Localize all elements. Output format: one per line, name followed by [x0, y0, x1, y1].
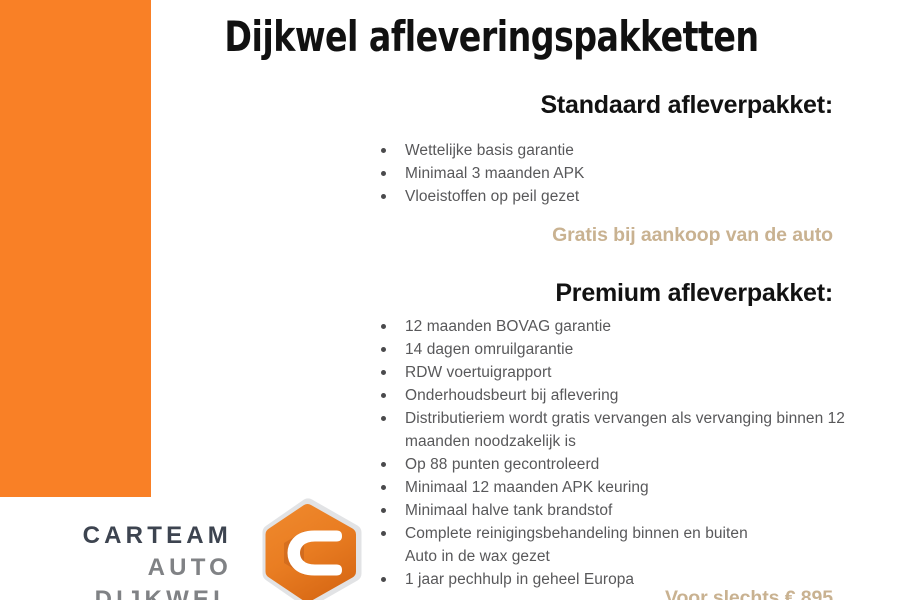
orange-sidebar-block [0, 0, 151, 497]
standard-package-list: Wettelijke basis garantie Minimaal 3 maa… [381, 139, 851, 208]
list-item: 12 maanden BOVAG garantie [381, 315, 851, 338]
carteam-hexagon-c-logo-icon [256, 497, 368, 600]
premium-package-list: 12 maanden BOVAG garantie 14 dagen omrui… [381, 315, 851, 591]
list-item: Minimaal 3 maanden APK [381, 162, 851, 185]
premium-package-heading: Premium afleverpakket: [333, 278, 833, 308]
list-item: Auto in de wax gezet [381, 545, 851, 568]
brand-name-carteam: CARTEAM [0, 520, 232, 552]
list-item: Vloeistoffen op peil gezet [381, 185, 851, 208]
standard-package-heading: Standaard afleverpakket: [333, 90, 833, 120]
brand-name-auto-dijkwel: AUTO DIJKWEL [0, 552, 232, 600]
list-item: Wettelijke basis garantie [381, 139, 851, 162]
page-title: Dijkwel afleveringspakketten [191, 12, 792, 62]
list-item: Complete reinigingsbehandeling binnen en… [381, 522, 851, 545]
brand-wordmark: CARTEAM AUTO DIJKWEL [0, 520, 232, 600]
list-item: RDW voertuigrapport [381, 361, 851, 384]
list-item: Minimaal halve tank brandstof [381, 499, 851, 522]
poster-canvas: Dijkwel afleveringspakketten Standaard a… [0, 0, 902, 600]
standard-package-price-note: Gratis bij aankoop van de auto [333, 222, 833, 248]
list-item: 14 dagen omruilgarantie [381, 338, 851, 361]
list-item: Onderhoudsbeurt bij aflevering [381, 384, 851, 407]
list-item: Op 88 punten gecontroleerd [381, 453, 851, 476]
premium-package-price-note: Voor slechts € 895 [333, 585, 833, 600]
list-item: Distributieriem wordt gratis vervangen a… [381, 407, 851, 453]
list-item: Minimaal 12 maanden APK keuring [381, 476, 851, 499]
